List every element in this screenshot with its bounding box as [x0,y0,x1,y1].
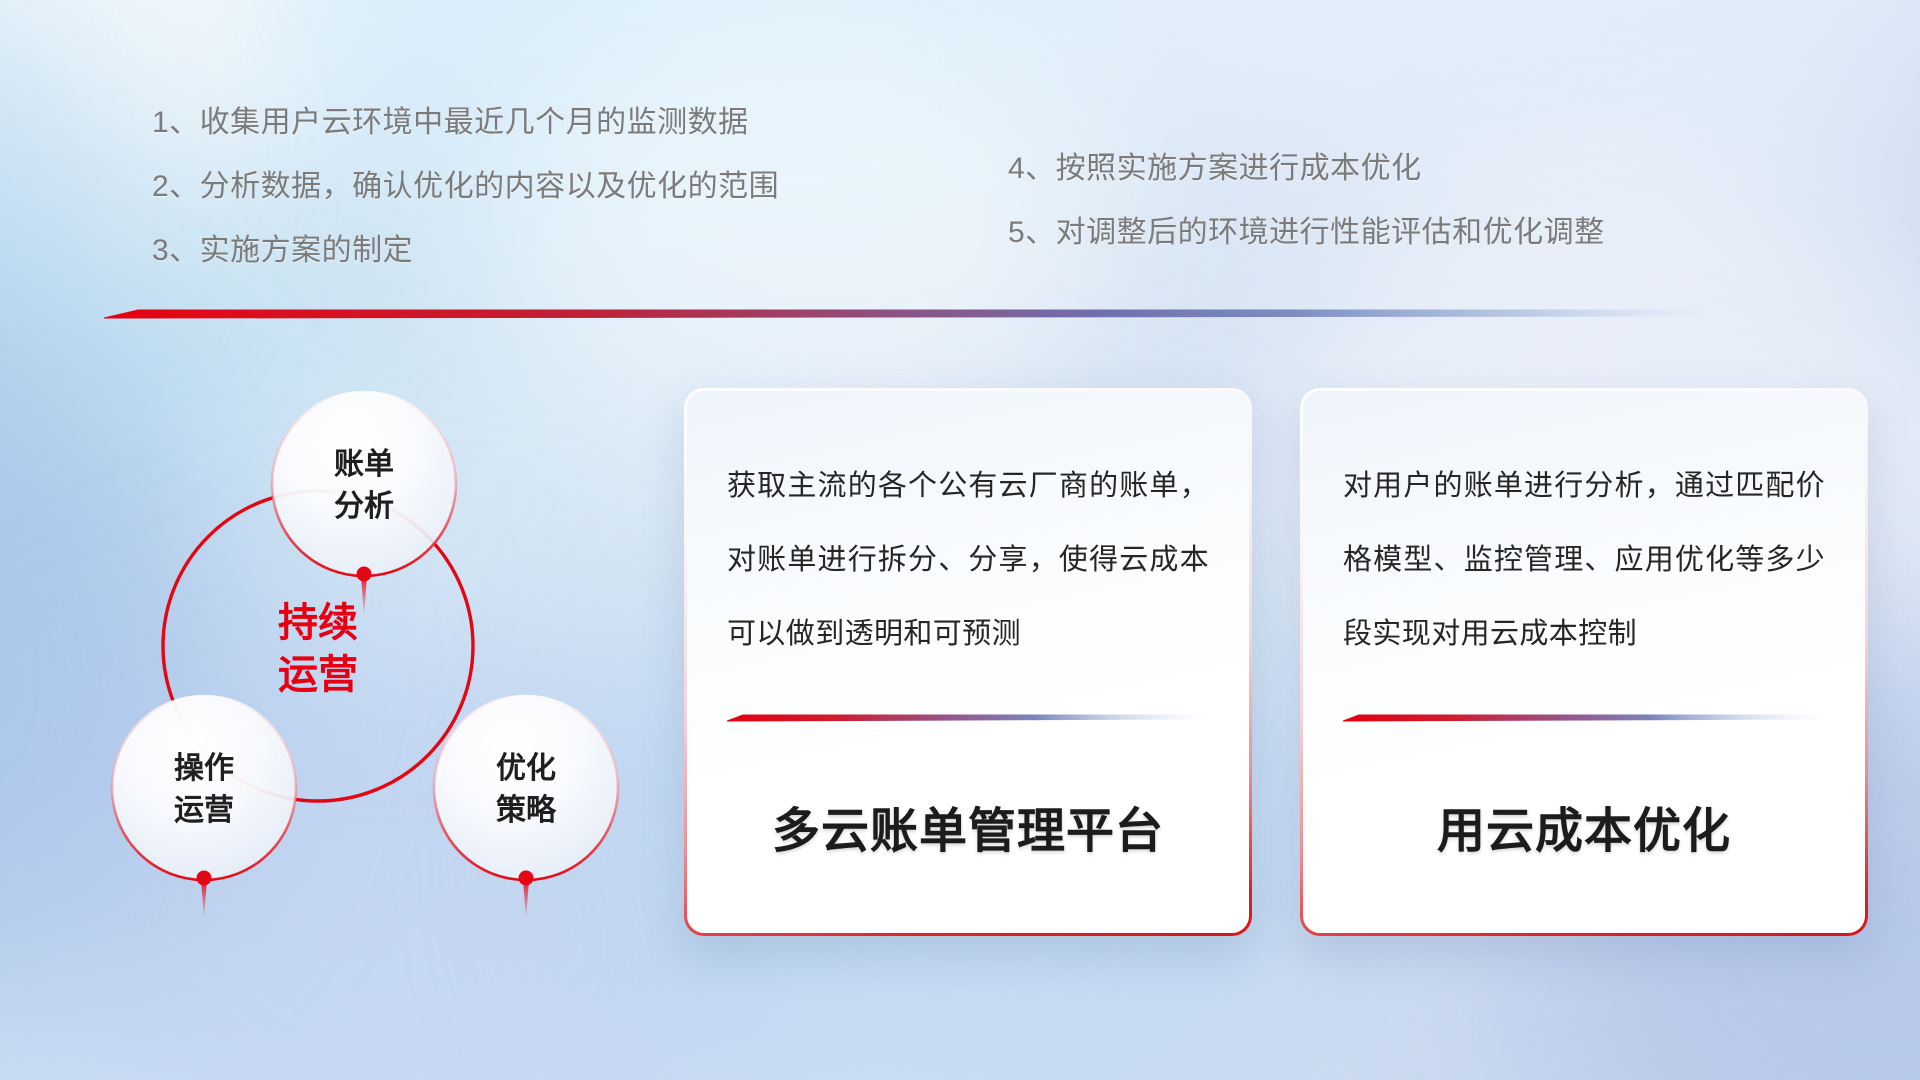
venn-center-label-line2: 运营 [278,653,358,697]
feature-card-rule [1343,713,1827,722]
venn-label-billing-line2: 分析 [334,490,394,523]
step-item-5: 5、对调整后的环境进行性能评估和优化调整 [1008,218,1605,248]
slide-canvas: 1、收集用户云环境中最近几个月的监测数据 2、分析数据，确认优化的内容以及优化的… [0,0,1920,1080]
feature-card-inner: 对用户的账单进行分析，通过匹配价格模型、监控管理、应用优化等多少段实现对用云成本… [1303,391,1865,933]
feature-card-body: 对用户的账单进行分析，通过匹配价格模型、监控管理、应用优化等多少段实现对用云成本… [1343,449,1825,671]
feature-card-body: 获取主流的各个公有云厂商的账单，对账单进行拆分、分享，使得云成本可以做到透明和可… [727,449,1209,671]
feature-card-cloud-cost-optimization[interactable]: 对用户的账单进行分析，通过匹配价格模型、监控管理、应用优化等多少段实现对用云成本… [1300,388,1868,936]
feature-card-rule [727,713,1211,722]
section-divider [104,305,1714,321]
steps-list: 1、收集用户云环境中最近几个月的监测数据 2、分析数据，确认优化的内容以及优化的… [0,108,1920,308]
feature-card-title: 多云账单管理平台 [687,791,1249,861]
venn-label-operations-line1: 操作 [174,752,234,785]
venn-label-strategy-line1: 优化 [496,752,556,785]
feature-card-inner: 获取主流的各个公有云厂商的账单，对账单进行拆分、分享，使得云成本可以做到透明和可… [687,391,1249,933]
venn-label-billing-line1: 账单 [334,448,394,481]
feature-card-title: 用云成本优化 [1303,791,1865,861]
venn-label-strategy-line2: 策略 [496,793,557,827]
step-item-3: 3、实施方案的制定 [152,236,779,266]
step-item-2: 2、分析数据，确认优化的内容以及优化的范围 [152,172,779,202]
step-item-4: 4、按照实施方案进行成本优化 [1008,154,1605,184]
continuous-operations-diagram: 账单 分析 操作 运营 优化 策略 持续 运营 [96,336,676,956]
steps-column-left: 1、收集用户云环境中最近几个月的监测数据 2、分析数据，确认优化的内容以及优化的… [152,108,779,300]
step-item-1: 1、收集用户云环境中最近几个月的监测数据 [152,108,779,138]
feature-card-multi-cloud-billing-platform[interactable]: 获取主流的各个公有云厂商的账单，对账单进行拆分、分享，使得云成本可以做到透明和可… [684,388,1252,936]
steps-column-right: 4、按照实施方案进行成本优化 5、对调整后的环境进行性能评估和优化调整 [1008,154,1605,282]
venn-center-label-line1: 持续 [278,601,358,645]
venn-label-operations-line2: 运营 [174,794,234,827]
